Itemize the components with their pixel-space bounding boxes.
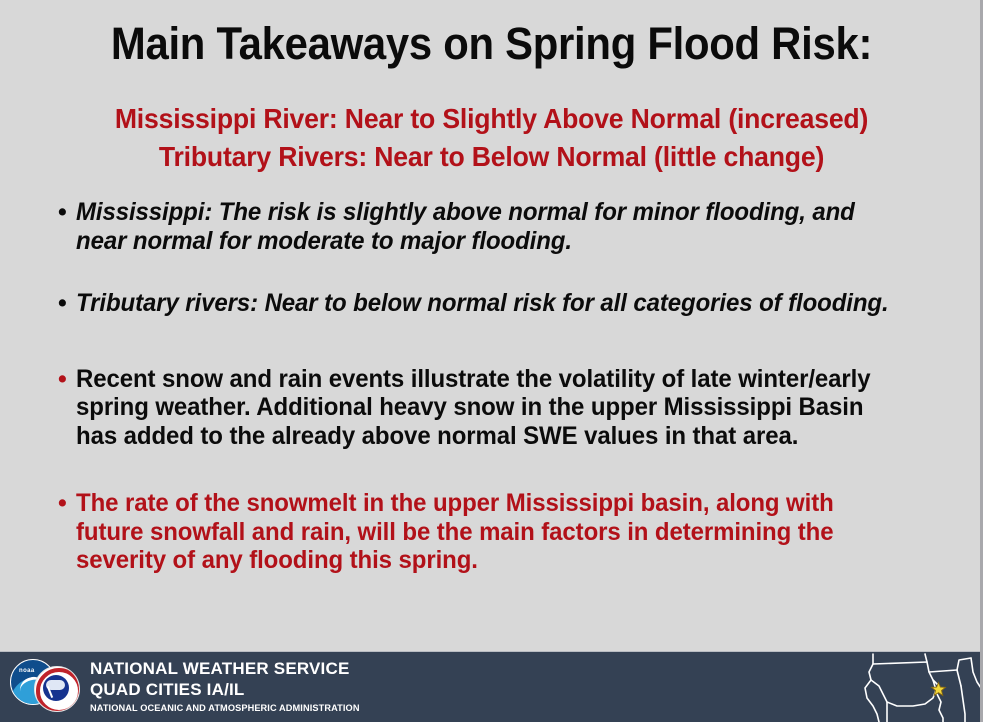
footer-office-location: QUAD CITIES IA/IL (90, 679, 368, 700)
footer-parent-agency: NATIONAL OCEANIC AND ATMOSPHERIC ADMINIS… (90, 703, 360, 714)
footer-bar: noaa NATIONAL WEATHER SERVICE QUAD CITIE… (0, 651, 983, 722)
list-item-recent-events: • Recent snow and rain events illustrate… (58, 365, 938, 451)
bullet-list: • Mississippi: The risk is slightly abov… (58, 198, 938, 595)
slide-canvas: Main Takeaways on Spring Flood Risk: Mis… (0, 0, 983, 722)
list-item-text: The rate of the snowmelt in the upper Mi… (76, 489, 904, 575)
subtitle-mississippi: Mississippi River: Near to Slightly Abov… (25, 100, 959, 138)
nws-logo-icon (34, 666, 80, 712)
regional-state-map (853, 652, 983, 722)
list-item-snowmelt-rate: • The rate of the snowmelt in the upper … (58, 489, 938, 575)
bullet-marker-icon: • (58, 365, 76, 394)
list-item-text: Recent snow and rain events illustrate t… (76, 365, 904, 451)
list-item-text: Tributary rivers: Near to below normal r… (76, 289, 904, 318)
footer-office-name: NATIONAL WEATHER SERVICE (90, 658, 368, 679)
subtitle-tributary: Tributary Rivers: Near to Below Normal (… (25, 138, 959, 176)
agency-logos: noaa (8, 656, 82, 718)
list-item-tributary: • Tributary rivers: Near to below normal… (58, 289, 938, 318)
bullet-marker-icon: • (58, 198, 76, 227)
bullet-marker-icon: • (58, 289, 76, 318)
subtitle-group: Mississippi River: Near to Slightly Abov… (0, 100, 983, 176)
bullet-marker-icon: • (58, 489, 76, 518)
page-title: Main Takeaways on Spring Flood Risk: (34, 18, 948, 70)
nws-emblem-shape (43, 675, 69, 701)
agency-text-block: NATIONAL WEATHER SERVICE QUAD CITIES IA/… (90, 658, 368, 714)
list-item-mississippi: • Mississippi: The risk is slightly abov… (58, 198, 938, 255)
noaa-logo-label: noaa (19, 668, 35, 674)
list-item-text: Mississippi: The risk is slightly above … (76, 198, 904, 255)
